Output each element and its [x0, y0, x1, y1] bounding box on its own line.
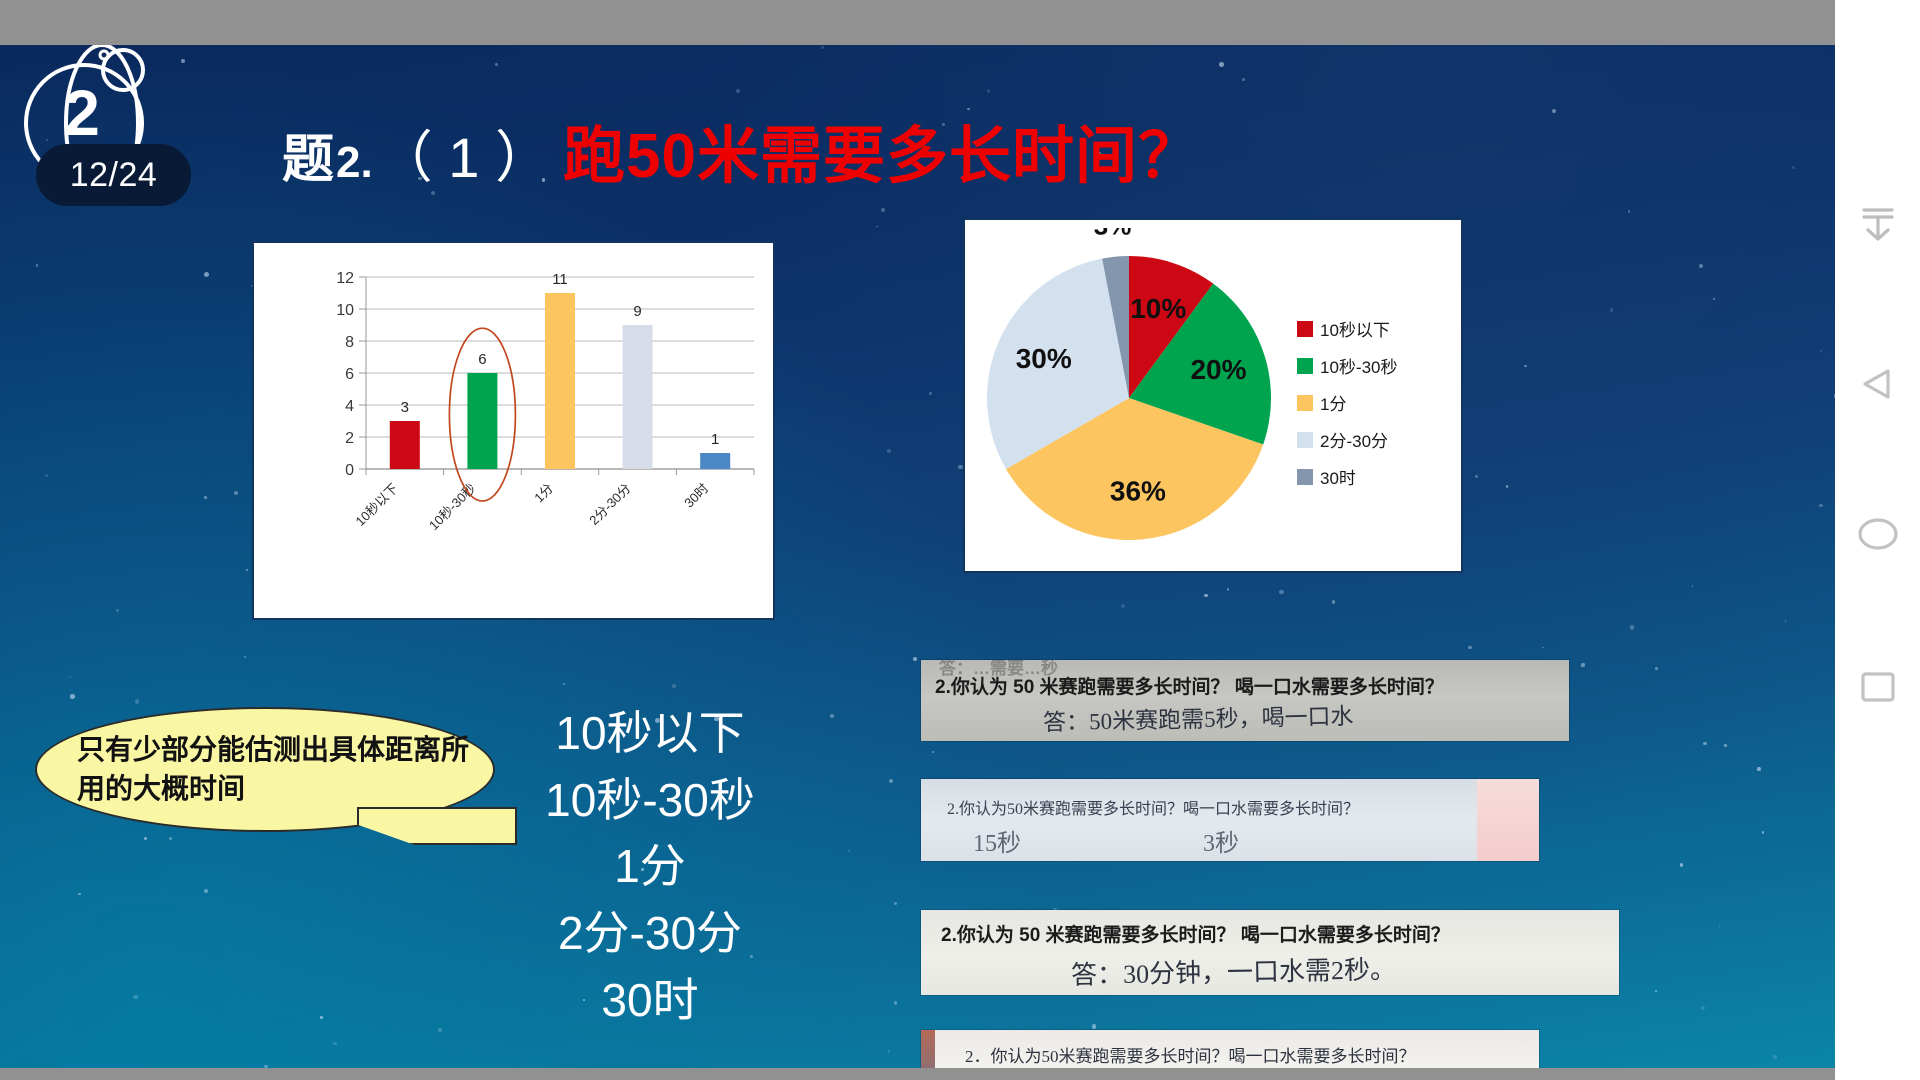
legend-entry-0: 10秒以下 — [1297, 316, 1397, 341]
legend-label: 10秒-30秒 — [1320, 353, 1397, 378]
legend-swatch-icon — [1297, 432, 1313, 448]
option-item-2: 1分 — [505, 833, 795, 900]
presentation-slide[interactable]: 2 12/24 题 2. （ 1 ） 跑50米需要多长时间？ 024681012… — [0, 45, 1835, 1068]
page-indicator: 12/24 — [36, 144, 191, 206]
scanned-answer-1[interactable]: 答：…需要…秒 2.你认为 50 米赛跑需要多长时间？ 喝一口水需要多长时间？ … — [920, 659, 1570, 742]
scan-4-edge-margin — [921, 1030, 935, 1068]
legend-swatch-icon — [1297, 358, 1313, 374]
option-item-0: 10秒以下 — [505, 700, 795, 767]
pie-chart: 10%20%36%30%3% — [977, 228, 1297, 568]
scanned-answer-2[interactable]: 2.你认为50米赛跑需要多长时间？喝一口水需要多长时间？ 15秒 3秒 — [920, 778, 1540, 862]
title-prefix: 题 — [282, 117, 334, 192]
svg-text:6: 6 — [478, 351, 486, 368]
home-icon[interactable] — [1835, 498, 1920, 570]
legend-label: 30时 — [1320, 464, 1356, 489]
legend-entry-2: 1分 — [1297, 390, 1397, 415]
scan-2-pink-margin — [1477, 779, 1539, 861]
legend-label: 1分 — [1320, 390, 1346, 415]
svg-text:10秒以下: 10秒以下 — [353, 481, 401, 529]
scan-1-handwriting: 答：50米赛跑需5秒，喝一口水 — [1043, 697, 1354, 737]
balloon-text: 只有少部分能估测出具体距离所用的大概时间 — [77, 731, 477, 808]
page-title: 题 2. （ 1 ） 跑50米需要多长时间？ — [282, 105, 1201, 195]
svg-text:4: 4 — [345, 398, 354, 415]
svg-text:8: 8 — [345, 334, 354, 351]
svg-text:30%: 30% — [1016, 343, 1072, 374]
top-chrome-bar — [0, 0, 1835, 45]
scan-3-printed: 2.你认为 50 米赛跑需要多长时间？ 喝一口水需要多长时间？ — [941, 920, 1450, 947]
svg-text:2: 2 — [345, 430, 354, 447]
slide-number-decoration: 2 — [6, 45, 206, 235]
legend-swatch-icon — [1297, 469, 1313, 485]
option-item-3: 2分-30分 — [505, 900, 795, 967]
scanned-answer-4[interactable]: 2．你认为50米赛跑需要多长时间？喝一口水需要多长时间？ 30个小时 10miǎ… — [920, 1029, 1540, 1068]
svg-text:3: 3 — [401, 399, 409, 416]
legend-entry-4: 30时 — [1297, 464, 1397, 489]
svg-text:10秒-30秒: 10秒-30秒 — [426, 481, 479, 534]
legend-swatch-icon — [1297, 395, 1313, 411]
svg-text:0: 0 — [345, 462, 354, 479]
option-item-4: 30时 — [505, 967, 795, 1034]
callout-balloon: 只有少部分能估测出具体距离所用的大概时间 — [35, 707, 505, 887]
svg-text:11: 11 — [552, 271, 568, 288]
scan-3-handwriting: 答：30分钟，一口水需2秒。 — [1071, 949, 1397, 992]
scan-2-printed: 2.你认为50米赛跑需要多长时间？喝一口水需要多长时间？ — [947, 795, 1359, 819]
svg-text:6: 6 — [345, 366, 354, 383]
svg-text:3%: 3% — [1094, 228, 1132, 241]
pie-chart-card[interactable]: 10%20%36%30%3% 10秒以下10秒-30秒1分2分-30分30时 — [963, 218, 1463, 573]
option-list: 10秒以下10秒-30秒1分2分-30分30时 — [505, 700, 795, 1033]
svg-text:36%: 36% — [1110, 475, 1166, 506]
bottom-chrome-bar — [0, 1068, 1835, 1080]
title-paren: （ 1 ） — [377, 113, 551, 194]
scan-4-printed: 2．你认为50米赛跑需要多长时间？喝一口水需要多长时间？ — [965, 1042, 1416, 1067]
title-question: 跑50米需要多长时间？ — [563, 105, 1201, 195]
pie-chart-legend: 10秒以下10秒-30秒1分2分-30分30时 — [1297, 316, 1397, 489]
bar-chart-card[interactable]: 024681012310秒以下610秒-30秒111分92分-30分130时 — [252, 241, 775, 620]
svg-text:30时: 30时 — [681, 481, 711, 511]
recents-icon[interactable] — [1835, 652, 1920, 724]
slide-number: 2 — [44, 81, 120, 145]
bar-chart: 024681012310秒以下610秒-30秒111分92分-30分130时 — [254, 243, 777, 622]
legend-entry-1: 10秒-30秒 — [1297, 353, 1397, 378]
svg-text:12: 12 — [336, 270, 354, 287]
legend-swatch-icon — [1297, 321, 1313, 337]
svg-text:10: 10 — [336, 302, 354, 319]
svg-text:1: 1 — [711, 431, 719, 448]
svg-text:2分-30分: 2分-30分 — [586, 481, 633, 528]
legend-entry-3: 2分-30分 — [1297, 427, 1397, 452]
android-navigation-rail — [1835, 0, 1920, 1080]
scanned-answer-3[interactable]: 2.你认为 50 米赛跑需要多长时间？ 喝一口水需要多长时间？ 答：30分钟，一… — [920, 909, 1620, 996]
balloon-tail — [357, 807, 517, 845]
title-number: 2. — [336, 138, 373, 188]
collapse-nav-icon[interactable] — [1835, 188, 1920, 260]
svg-text:20%: 20% — [1190, 354, 1246, 385]
legend-label: 10秒以下 — [1320, 316, 1390, 341]
svg-text:1分: 1分 — [531, 481, 556, 506]
svg-text:10%: 10% — [1130, 293, 1186, 324]
svg-text:9: 9 — [633, 303, 641, 320]
legend-label: 2分-30分 — [1320, 427, 1388, 452]
scan-1-printed: 2.你认为 50 米赛跑需要多长时间？ 喝一口水需要多长时间？ — [935, 672, 1444, 699]
option-item-1: 10秒-30秒 — [505, 767, 795, 834]
scan-2-handwriting-left: 15秒 — [973, 823, 1021, 858]
scan-2-handwriting-right: 3秒 — [1203, 823, 1239, 858]
back-icon[interactable] — [1835, 348, 1920, 420]
screen: 2 12/24 题 2. （ 1 ） 跑50米需要多长时间？ 024681012… — [0, 0, 1920, 1080]
